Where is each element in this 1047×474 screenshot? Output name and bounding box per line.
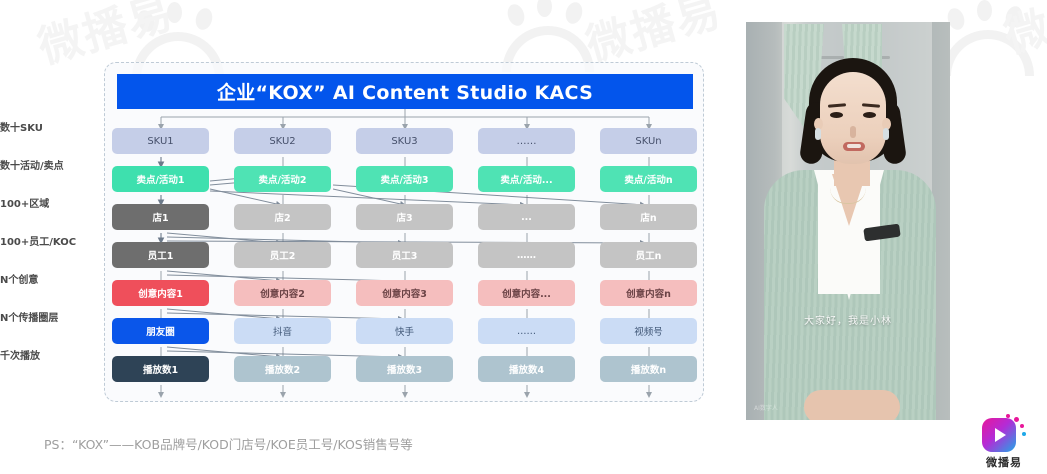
mouth: [843, 142, 865, 151]
eye-left: [830, 112, 843, 118]
footnote-text: PS：“KOX”——KOB品牌号/KOD门店号/KOE员工号/KOS销售号等: [44, 434, 413, 453]
node-idea-row-2[interactable]: 创意内容2: [234, 280, 331, 306]
node-store-row-5[interactable]: 店n: [600, 204, 697, 230]
node-staff-row-1[interactable]: 员工1: [112, 242, 209, 268]
node-staff-row-5[interactable]: 员工n: [600, 242, 697, 268]
node-play-row-2[interactable]: 播放数2: [234, 356, 331, 382]
node-selling-point-row-4[interactable]: 卖点/活动...: [478, 166, 575, 192]
row-label-store-row: 100+区域: [0, 195, 96, 210]
node-selling-point-row-5[interactable]: 卖点/活动n: [600, 166, 697, 192]
video-corner-tag: AI数字人: [754, 403, 778, 412]
node-sku-row-4[interactable]: ……: [478, 128, 575, 154]
node-channel-row-4[interactable]: ……: [478, 318, 575, 344]
node-sku-row-3[interactable]: SKU3: [356, 128, 453, 154]
nose: [850, 126, 856, 138]
row-label-channel-row: N个传播圈层: [0, 309, 96, 324]
node-idea-row-5[interactable]: 创意内容n: [600, 280, 697, 306]
eye-right: [863, 112, 876, 118]
node-idea-row-4[interactable]: 创意内容...: [478, 280, 575, 306]
node-play-row-1[interactable]: 播放数1: [112, 356, 209, 382]
presenter-video[interactable]: 大家好，我是小林 AI数字人: [746, 22, 950, 420]
brand-watermark-text: 微: [996, 0, 1047, 65]
node-store-row-2[interactable]: 店2: [234, 204, 331, 230]
node-play-row-4[interactable]: 播放数4: [478, 356, 575, 382]
weiboyi-logo: 微播易: [972, 414, 1036, 468]
node-sku-row-5[interactable]: SKUn: [600, 128, 697, 154]
node-staff-row-3[interactable]: 员工3: [356, 242, 453, 268]
node-selling-point-row-2[interactable]: 卖点/活动2: [234, 166, 331, 192]
node-channel-row-2[interactable]: 抖音: [234, 318, 331, 344]
node-channel-row-3[interactable]: 快手: [356, 318, 453, 344]
node-selling-point-row-3[interactable]: 卖点/活动3: [356, 166, 453, 192]
node-store-row-4[interactable]: ...: [478, 204, 575, 230]
node-staff-row-2[interactable]: 员工2: [234, 242, 331, 268]
node-play-row-5[interactable]: 播放数n: [600, 356, 697, 382]
row-label-play-row: 千次播放: [0, 347, 96, 362]
row-label-idea-row: N个创意: [0, 271, 96, 286]
earring-left: [815, 128, 821, 140]
presenter-hands: [804, 390, 900, 420]
node-sku-row-2[interactable]: SKU2: [234, 128, 331, 154]
logo-wordmark: 微播易: [976, 454, 1032, 470]
logo-dot-icon: [1014, 417, 1019, 422]
node-selling-point-row-1[interactable]: 卖点/活动1: [112, 166, 209, 192]
row-label-selling-point-row: 数十活动/卖点: [0, 157, 96, 172]
node-idea-row-3[interactable]: 创意内容3: [356, 280, 453, 306]
video-subtitle: 大家好，我是小林: [746, 312, 950, 327]
node-play-row-3[interactable]: 播放数3: [356, 356, 453, 382]
node-channel-row-5[interactable]: 视频号: [600, 318, 697, 344]
row-label-staff-row: 100+员工/KOC: [0, 233, 96, 248]
node-store-row-1[interactable]: 店1: [112, 204, 209, 230]
logo-dot-icon: [1020, 424, 1024, 428]
node-grid: SKU1SKU2SKU3……SKUn卖点/活动1卖点/活动2卖点/活动3卖点/活…: [104, 62, 704, 402]
node-store-row-3[interactable]: 店3: [356, 204, 453, 230]
slide-canvas: 微播易 微播易 微 企业“KOX” AI Content Studio KACS: [0, 0, 1047, 474]
earring-right: [883, 128, 889, 140]
node-idea-row-1[interactable]: 创意内容1: [112, 280, 209, 306]
node-sku-row-1[interactable]: SKU1: [112, 128, 209, 154]
node-channel-row-1[interactable]: 朋友圈: [112, 318, 209, 344]
play-button-icon: [982, 418, 1016, 452]
node-staff-row-4[interactable]: ……: [478, 242, 575, 268]
logo-dot-icon: [1022, 432, 1026, 436]
row-label-sku-row: 数十SKU: [0, 119, 96, 134]
